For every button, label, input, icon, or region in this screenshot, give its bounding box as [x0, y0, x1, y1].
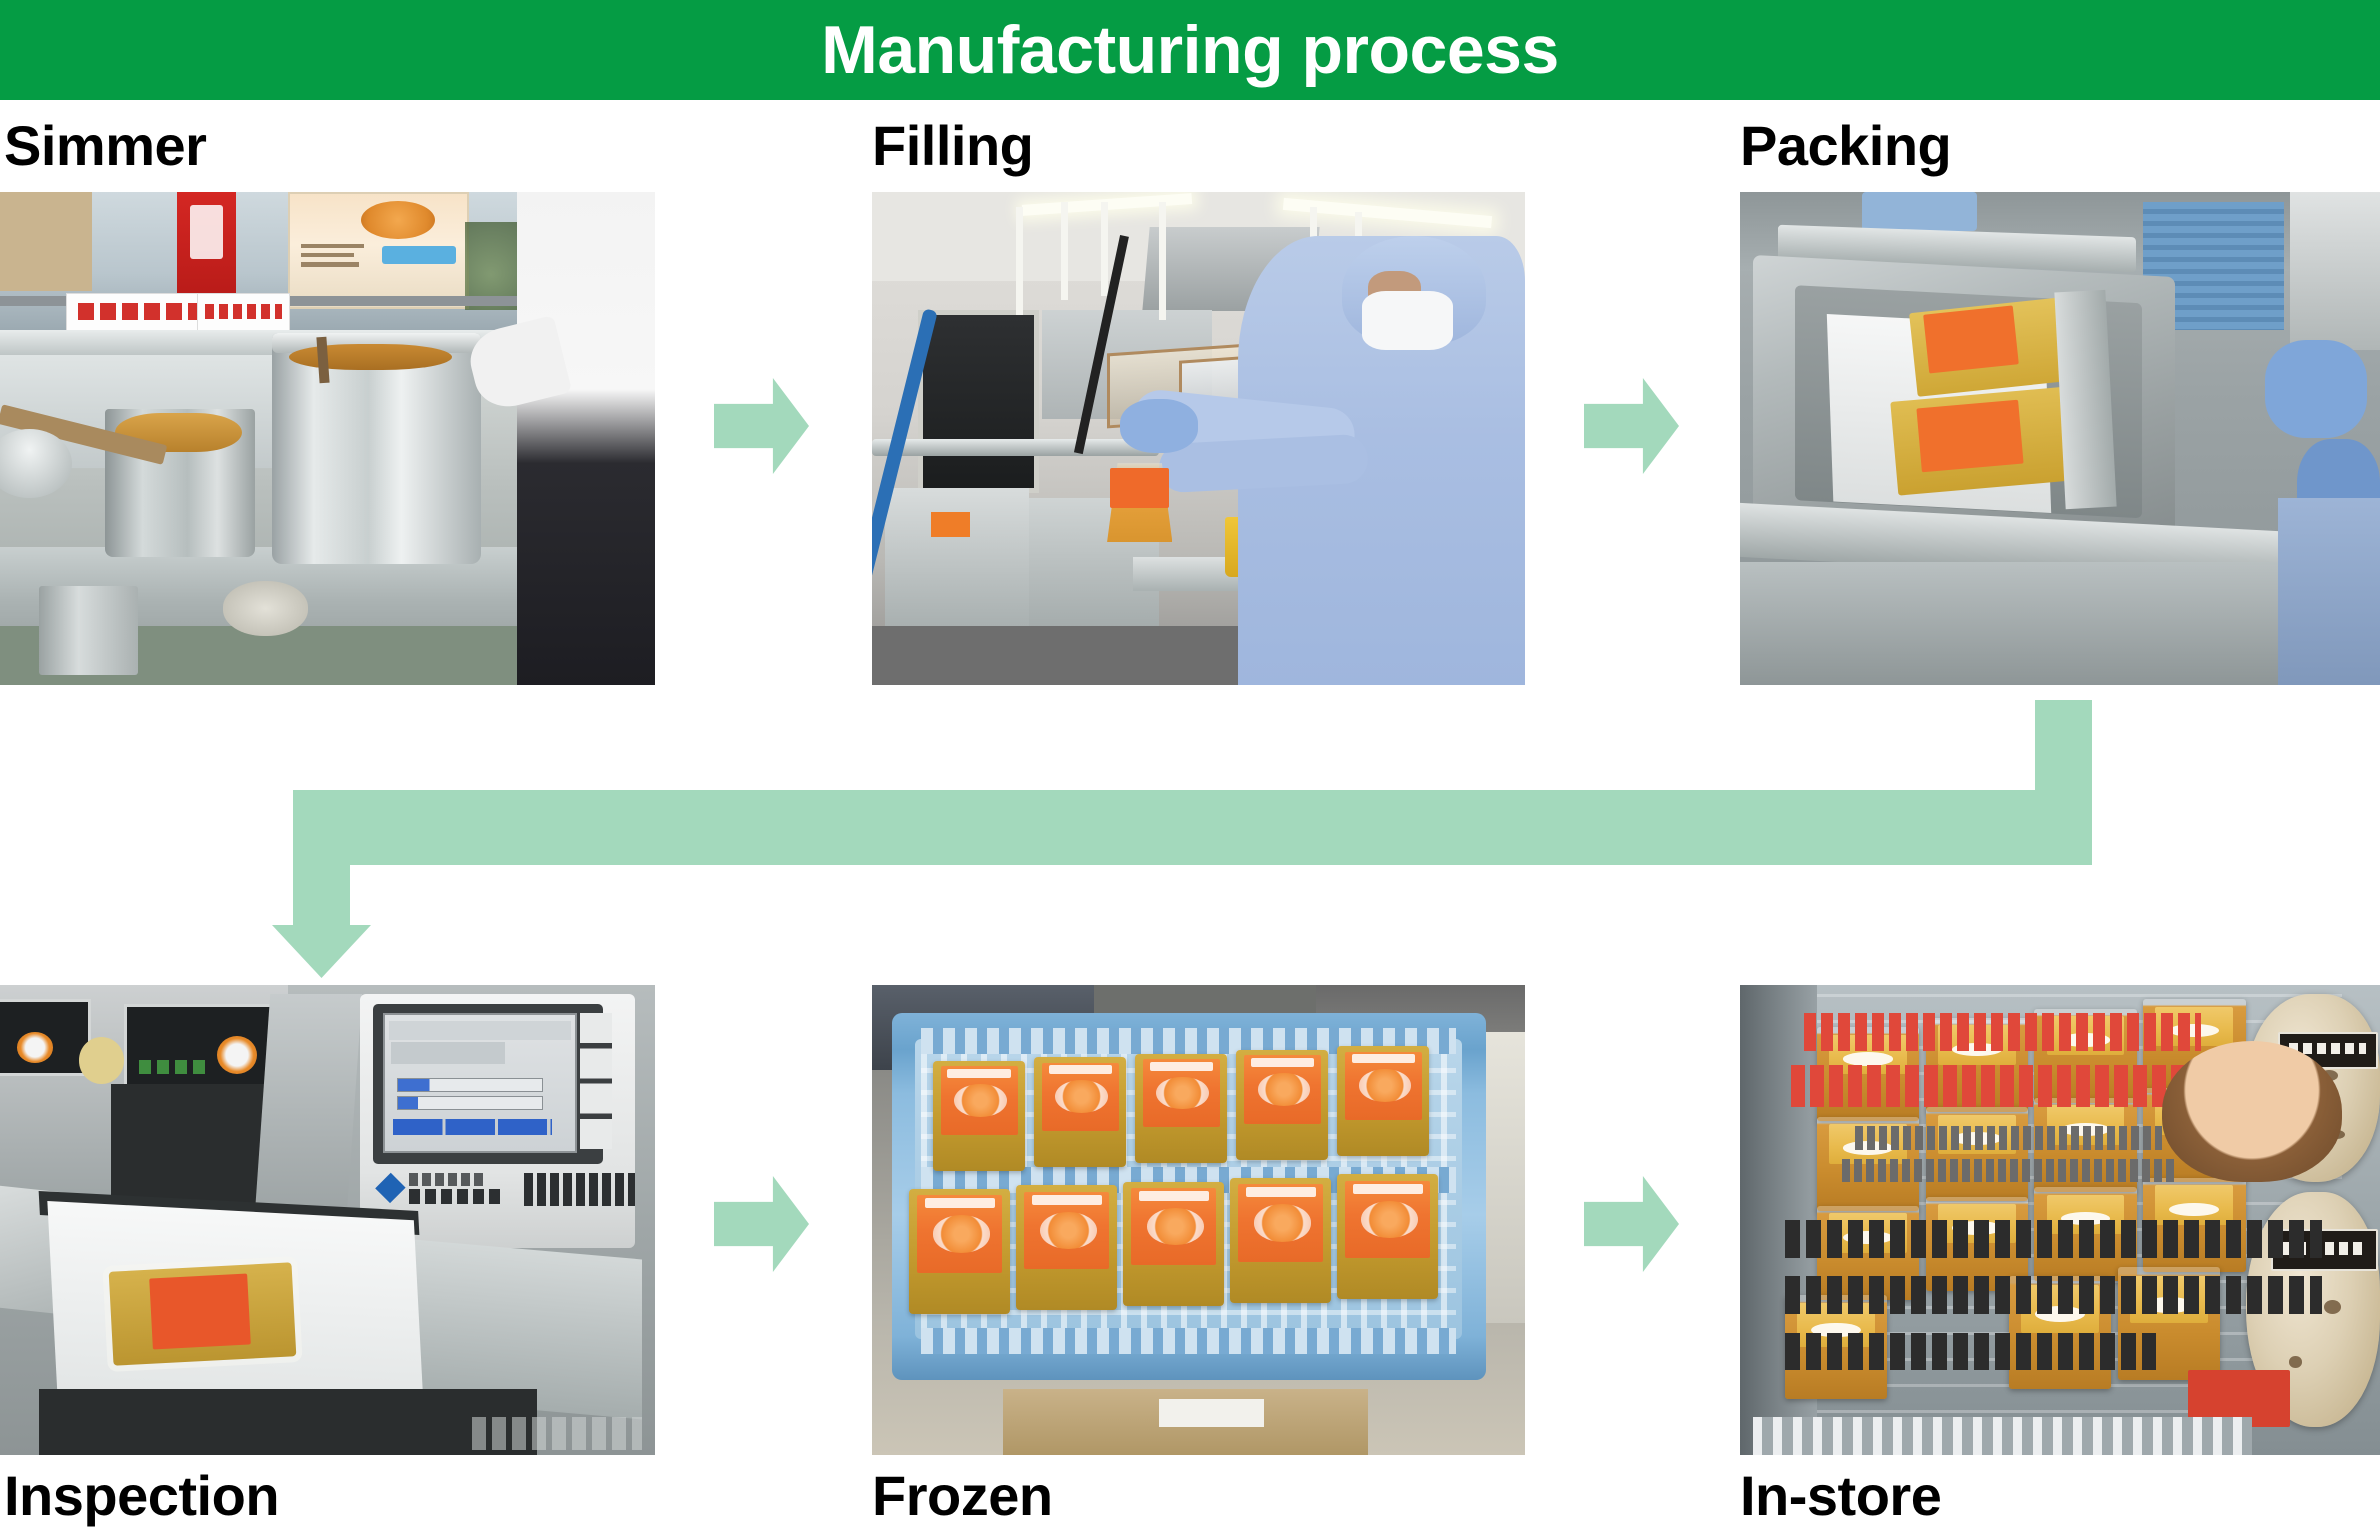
- arrow-filling-to-packing: [1584, 378, 1679, 474]
- step-label-simmer: Simmer: [4, 118, 206, 174]
- manufacturing-process-diagram: Manufacturing process Simmer Filling Pac…: [0, 0, 2380, 1530]
- photo-in-store: [1740, 985, 2380, 1455]
- photo-inspection: [0, 985, 655, 1455]
- step-label-in-store: In-store: [1740, 1468, 1941, 1524]
- step-label-packing: Packing: [1740, 118, 1951, 174]
- step-label-frozen: Frozen: [872, 1468, 1053, 1524]
- photo-simmer: [0, 192, 655, 685]
- photo-packing: [1740, 192, 2380, 685]
- page-title: Manufacturing process: [0, 0, 2380, 100]
- arrow-simmer-to-filling: [714, 378, 809, 474]
- connector-vertical-left: [293, 790, 350, 930]
- step-label-filling: Filling: [872, 118, 1033, 174]
- photo-filling: [872, 192, 1525, 685]
- connector-horizontal: [293, 790, 2092, 865]
- arrow-frozen-to-in-store: [1584, 1176, 1679, 1272]
- system-square-logo: [380, 1173, 511, 1206]
- photo-frozen: [872, 985, 1525, 1455]
- inspection-machine-touchscreen: [383, 1013, 577, 1153]
- connector-arrowhead-down-icon: [272, 925, 371, 978]
- arrow-inspection-to-frozen: [714, 1176, 809, 1272]
- step-label-inspection: Inspection: [4, 1468, 279, 1524]
